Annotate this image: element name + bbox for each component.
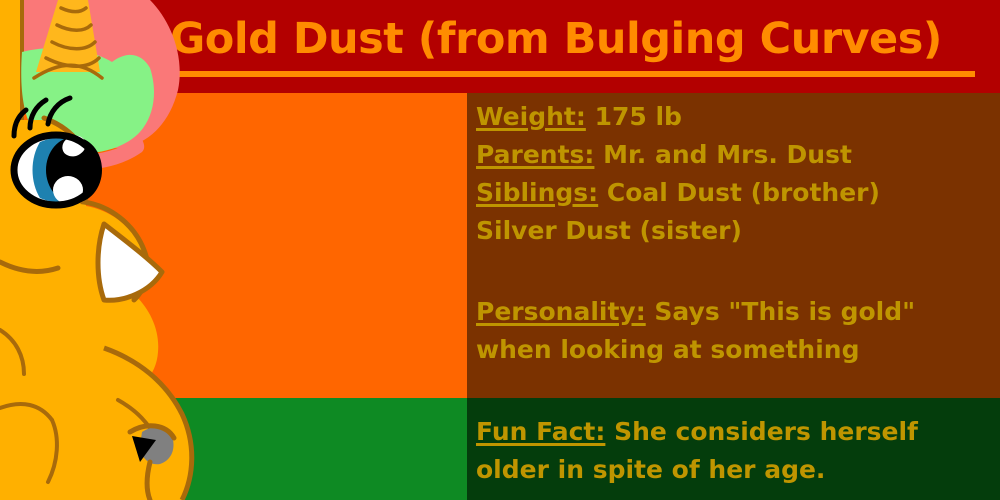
funfact-value: She considers herself [605,417,918,446]
info-line-funfact: Fun Fact: She considers herself [476,413,918,451]
info-line-personality: Personality: Says "This is gold" [476,293,915,331]
info-line-personality-2: when looking at something [476,331,915,369]
pony-character-illustration [0,0,260,500]
info-line-parents: Parents: Mr. and Mrs. Dust [476,136,880,174]
info-block-funfact: Fun Fact: She considers herself older in… [476,413,918,489]
info-line-funfact-2: older in spite of her age. [476,451,918,489]
page-title: Gold Dust (from Bulging Curves) [170,14,942,64]
parents-value: Mr. and Mrs. Dust [594,140,851,169]
info-block-stats: Weight: 175 lb Parents: Mr. and Mrs. Dus… [476,98,880,250]
header-bar: Gold Dust (from Bulging Curves) [130,0,1000,93]
personality-label: Personality: [476,297,646,326]
siblings-value: Coal Dust (brother) [598,178,880,207]
parents-label: Parents: [476,140,594,169]
lower-body [0,340,192,500]
weight-value: 175 lb [586,102,682,131]
character-info-card: Gold Dust (from Bulging Curves) Weight: … [0,0,1000,500]
info-line-weight: Weight: 175 lb [476,98,880,136]
funfact-label: Fun Fact: [476,417,605,446]
info-block-personality: Personality: Says "This is gold" when lo… [476,293,915,369]
personality-value: Says "This is gold" [646,297,915,326]
weight-label: Weight: [476,102,586,131]
siblings-label: Siblings: [476,178,598,207]
info-line-siblings: Siblings: Coal Dust (brother) [476,174,880,212]
info-line-siblings-2: Silver Dust (sister) [476,212,880,250]
title-underline [170,71,975,77]
hoof-leg-line [147,462,150,500]
